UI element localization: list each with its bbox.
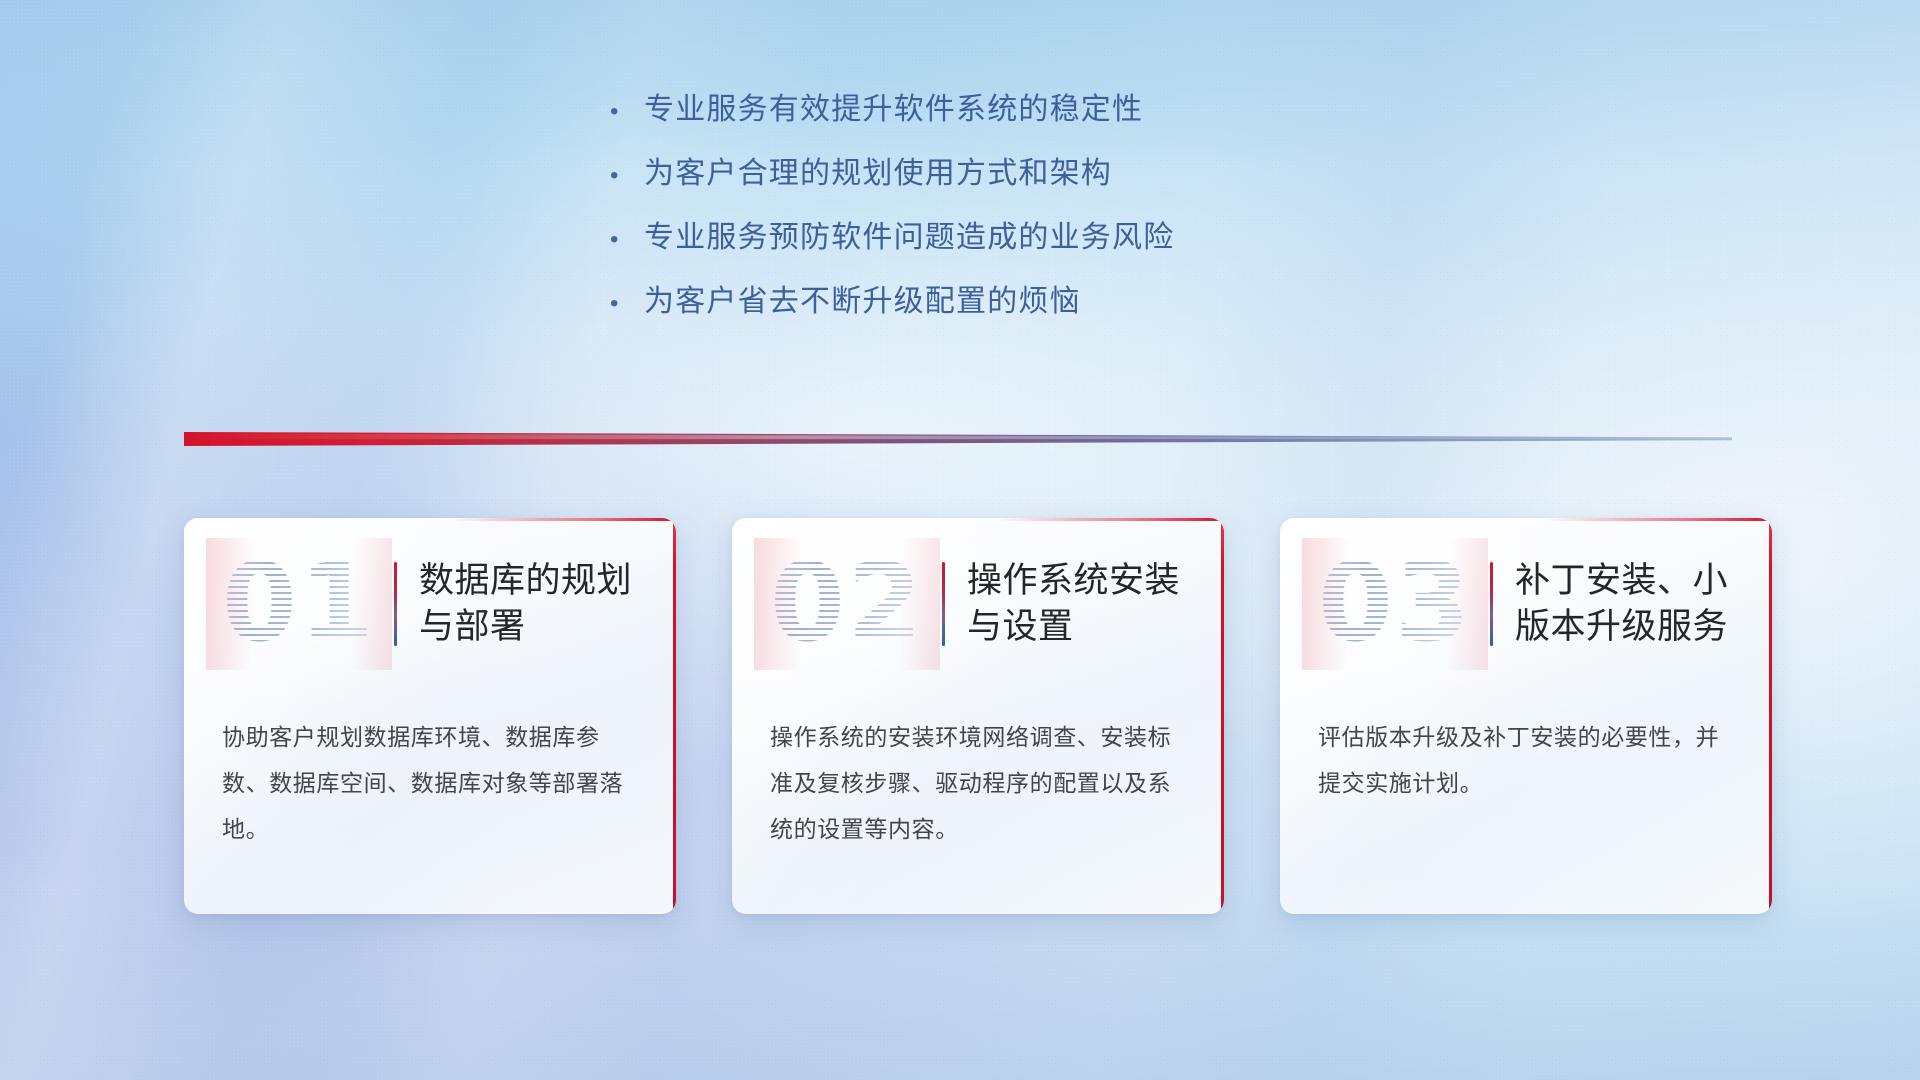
card-title: 操作系统安装与设置	[967, 558, 1199, 650]
card-number-watermark: 02	[754, 538, 940, 670]
bullet-marker-icon: •	[610, 292, 644, 316]
benefits-bullet-list: • 专业服务有效提升软件系统的稳定性 • 为客户合理的规划使用方式和架构 • 专…	[0, 84, 1920, 340]
card-title: 补丁安装、小版本升级服务	[1515, 558, 1747, 650]
bullet-item-1: • 专业服务有效提升软件系统的稳定性	[610, 84, 1310, 148]
bullet-text: 专业服务预防软件问题造成的业务风险	[644, 212, 1174, 256]
card-description: 操作系统的安装环境网络调查、安装标准及复核步骤、驱动程序的配置以及系统的设置等内…	[770, 714, 1186, 852]
card-header: 03 补丁安装、小版本升级服务	[1280, 518, 1772, 690]
section-divider	[184, 428, 1732, 446]
card-title-accent-bar	[394, 562, 397, 646]
card-number-watermark: 01	[206, 538, 392, 670]
bullet-marker-icon: •	[610, 228, 644, 252]
card-title-accent-bar	[1490, 562, 1493, 646]
card-number-text: 02	[770, 550, 924, 658]
bullet-text: 专业服务有效提升软件系统的稳定性	[644, 84, 1143, 128]
card-description: 评估版本升级及补丁安装的必要性，并提交实施计划。	[1318, 714, 1734, 806]
bullet-item-3: • 专业服务预防软件问题造成的业务风险	[610, 212, 1310, 276]
card-number-text: 01	[222, 550, 376, 658]
service-card-02[interactable]: 02 操作系统安装与设置 操作系统的安装环境网络调查、安装标准及复核步骤、驱动程…	[732, 518, 1224, 914]
card-number-watermark: 03	[1302, 538, 1488, 670]
card-number-text: 03	[1318, 550, 1472, 658]
bullet-text: 为客户省去不断升级配置的烦恼	[644, 276, 1081, 320]
bullet-item-4: • 为客户省去不断升级配置的烦恼	[610, 276, 1310, 340]
card-title-accent-bar	[942, 562, 945, 646]
bullet-item-2: • 为客户合理的规划使用方式和架构	[610, 148, 1310, 212]
service-card-03[interactable]: 03 补丁安装、小版本升级服务 评估版本升级及补丁安装的必要性，并提交实施计划。	[1280, 518, 1772, 914]
card-description: 协助客户规划数据库环境、数据库参数、数据库空间、数据库对象等部署落地。	[222, 714, 638, 852]
service-card-01[interactable]: 01 数据库的规划与部署 协助客户规划数据库环境、数据库参数、数据库空间、数据库…	[184, 518, 676, 914]
card-header: 02 操作系统安装与设置	[732, 518, 1224, 690]
card-title: 数据库的规划与部署	[419, 558, 651, 650]
card-header: 01 数据库的规划与部署	[184, 518, 676, 690]
bullet-text: 为客户合理的规划使用方式和架构	[644, 148, 1112, 192]
bullet-marker-icon: •	[610, 100, 644, 124]
bullet-marker-icon: •	[610, 164, 644, 188]
service-card-row: 01 数据库的规划与部署 协助客户规划数据库环境、数据库参数、数据库空间、数据库…	[184, 518, 1772, 914]
